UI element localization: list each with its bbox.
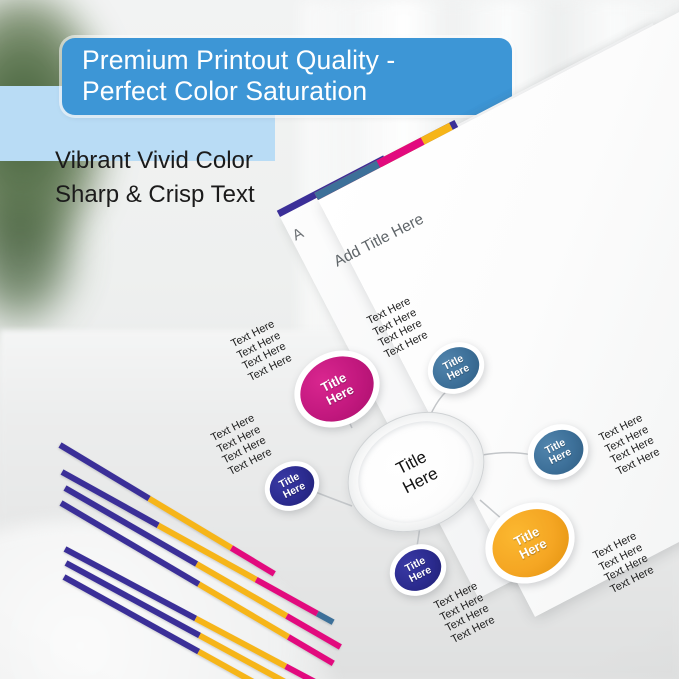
- screenshot-canvas: Premium Printout Quality - Perfect Color…: [0, 0, 679, 679]
- vignette-overlay: [0, 0, 679, 679]
